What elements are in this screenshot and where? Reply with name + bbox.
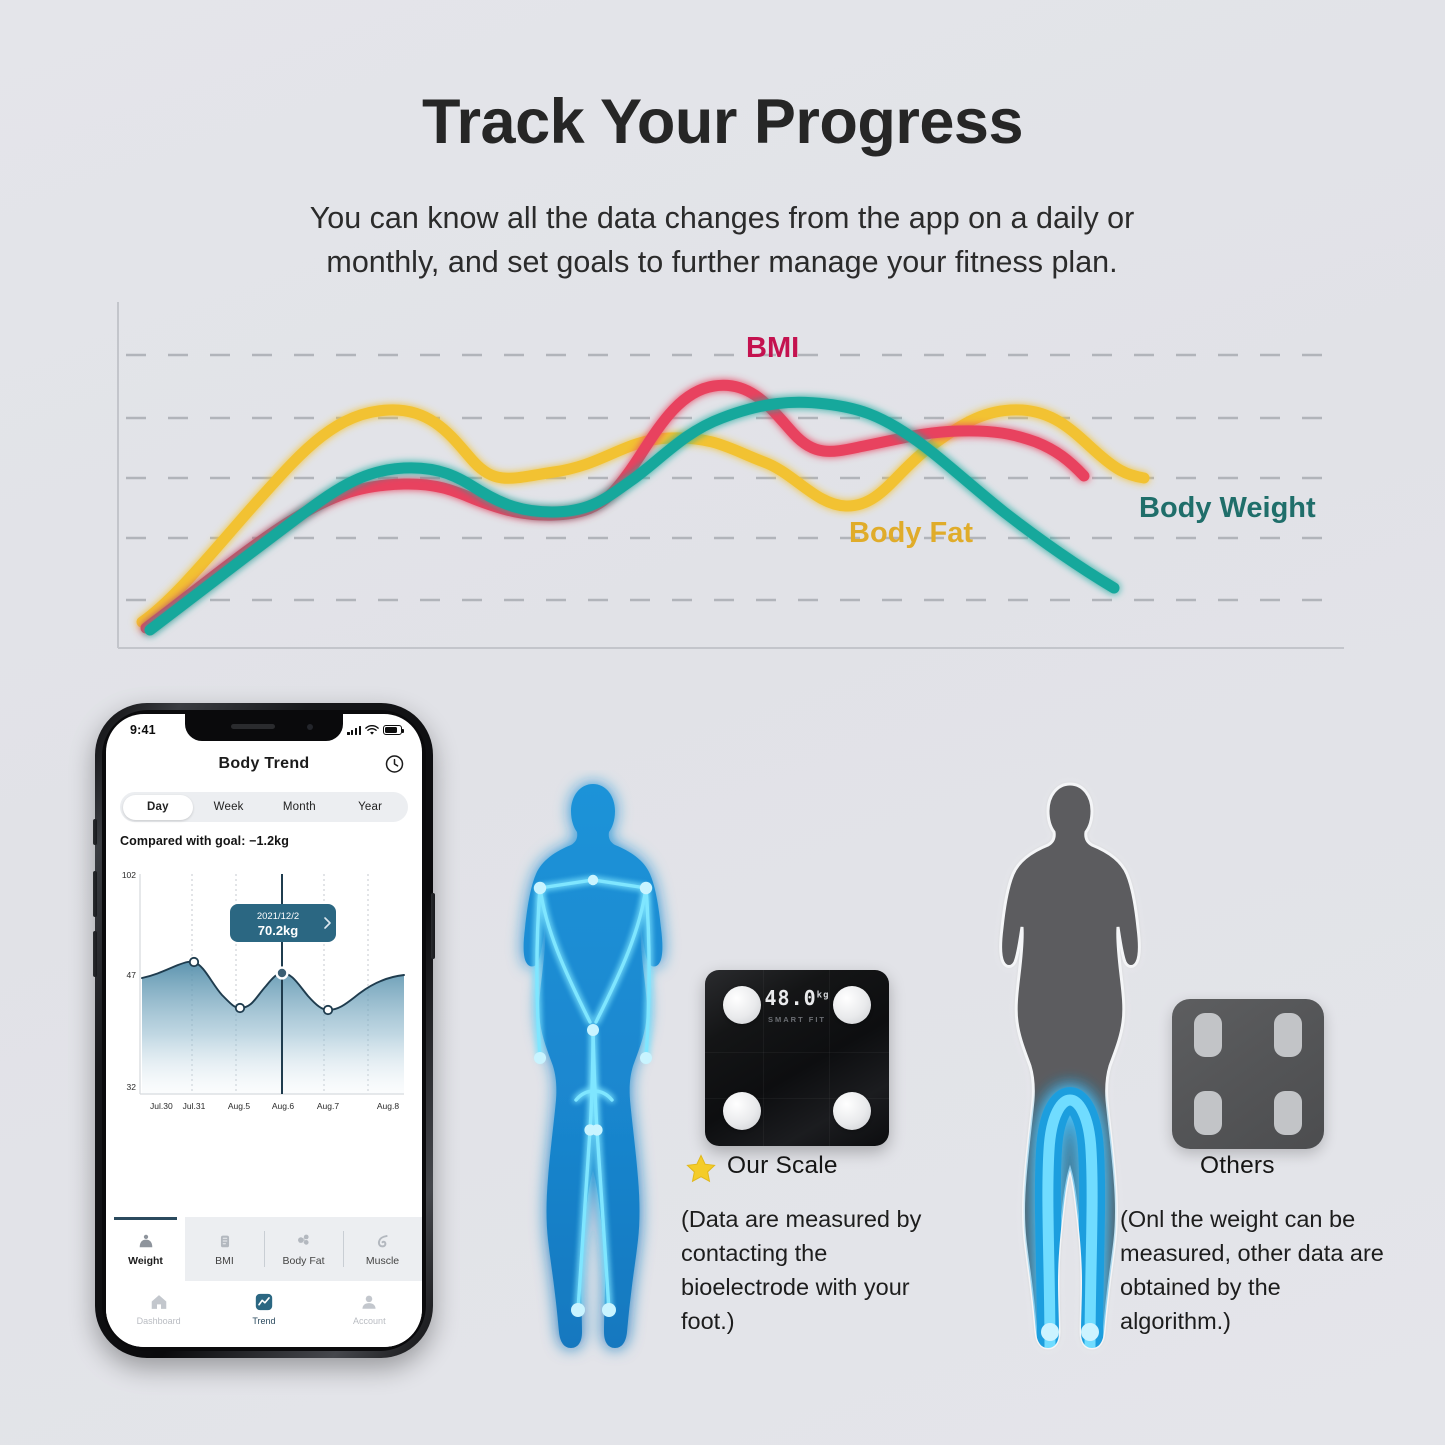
status-time: 9:41 bbox=[130, 723, 156, 737]
tooltip-value: 70.2kg bbox=[258, 923, 299, 938]
wifi-icon bbox=[365, 725, 379, 736]
mini-x-label: Jul.30 bbox=[150, 1101, 173, 1111]
chart-label-bmi: BMI bbox=[746, 332, 799, 364]
scale-pad bbox=[1194, 1013, 1222, 1057]
mini-chart-area bbox=[142, 962, 404, 1094]
mini-x-label: Aug.7 bbox=[317, 1101, 339, 1111]
phone-screen: 9:41 Body Trend bbox=[106, 714, 422, 1347]
nav-label: Account bbox=[353, 1316, 386, 1326]
metric-label: Body Fat bbox=[282, 1255, 324, 1267]
blue-body-figure bbox=[478, 770, 708, 1370]
phone-mute-switch[interactable] bbox=[93, 819, 97, 845]
page-title: Track Your Progress bbox=[0, 86, 1445, 158]
nav-item-trend[interactable]: Trend bbox=[211, 1292, 316, 1326]
muscle-icon bbox=[374, 1232, 392, 1250]
others-description: (Onl the weight can be measured, other d… bbox=[1120, 1202, 1390, 1338]
metric-tab-muscle[interactable]: Muscle bbox=[343, 1217, 422, 1281]
nav-label: Trend bbox=[252, 1316, 275, 1326]
segment-year[interactable]: Year bbox=[335, 795, 406, 820]
segment-week[interactable]: Week bbox=[193, 795, 264, 820]
segment-month[interactable]: Month bbox=[264, 795, 335, 820]
scale-display-unit: kg bbox=[817, 990, 830, 1000]
phone-notch bbox=[185, 714, 343, 741]
nav-item-dashboard[interactable]: Dashboard bbox=[106, 1292, 211, 1326]
chart-label-body-weight: Body Weight bbox=[1139, 492, 1316, 524]
bottom-navigation[interactable]: Dashboard Trend Account bbox=[106, 1281, 422, 1347]
mini-chart-point bbox=[236, 1004, 244, 1012]
star-icon bbox=[684, 1152, 718, 1186]
chart-label-body-fat: Body Fat bbox=[849, 517, 973, 549]
our-scale-description: (Data are measured by contacting the bio… bbox=[681, 1202, 939, 1338]
trend-chart: BMI Body Fat Body Weight bbox=[104, 300, 1354, 660]
bmi-icon bbox=[216, 1232, 234, 1250]
mini-x-label: Jul.31 bbox=[183, 1101, 206, 1111]
front-camera bbox=[307, 724, 313, 730]
phone-volume-up-button[interactable] bbox=[93, 871, 97, 917]
mini-y-label-mid: 47 bbox=[127, 970, 137, 980]
mini-x-label: Aug.8 bbox=[377, 1101, 399, 1111]
goal-comparison-text: Compared with goal: −1.2kg bbox=[120, 834, 289, 848]
signal-bars-icon bbox=[347, 725, 361, 735]
dark-smart-scale[interactable]: 48.0kg SMART FIT bbox=[705, 970, 889, 1146]
metric-tab-weight[interactable]: Weight bbox=[106, 1217, 185, 1281]
mini-chart-point bbox=[190, 958, 198, 966]
status-indicators bbox=[347, 725, 402, 736]
nav-label: Dashboard bbox=[137, 1316, 181, 1326]
scale-display: 48.0kg SMART FIT bbox=[764, 986, 829, 1024]
others-title: Others bbox=[1200, 1152, 1275, 1180]
mini-x-label: Aug.5 bbox=[228, 1101, 250, 1111]
mini-chart-point bbox=[324, 1006, 332, 1014]
app-title: Body Trend bbox=[218, 755, 309, 773]
earpiece-speaker bbox=[231, 724, 275, 729]
metric-label: Weight bbox=[128, 1255, 163, 1267]
series-bmi-line bbox=[146, 385, 1084, 628]
mini-y-label-bottom: 32 bbox=[127, 1082, 137, 1092]
our-scale-title: Our Scale bbox=[727, 1152, 838, 1180]
metric-tab-body-fat[interactable]: Body Fat bbox=[264, 1217, 343, 1281]
phone-power-button[interactable] bbox=[431, 893, 435, 959]
app-header: Body Trend bbox=[106, 744, 422, 784]
electrode-pad bbox=[723, 986, 761, 1024]
weight-icon bbox=[137, 1232, 155, 1250]
mini-y-label-top: 102 bbox=[122, 870, 136, 880]
home-icon bbox=[149, 1292, 169, 1312]
tooltip-date: 2021/12/2 bbox=[257, 911, 299, 922]
body-fat-icon bbox=[295, 1232, 313, 1250]
mini-chart-selected-point bbox=[277, 968, 288, 979]
nav-item-account[interactable]: Account bbox=[317, 1292, 422, 1326]
page-root: Track Your Progress You can know all the… bbox=[0, 0, 1445, 1445]
clock-icon[interactable] bbox=[385, 755, 404, 774]
period-segmented-control[interactable]: Day Week Month Year bbox=[120, 792, 408, 822]
scale-pad bbox=[1274, 1013, 1302, 1057]
electrode-pad bbox=[833, 1092, 871, 1130]
chart-gridlines bbox=[126, 355, 1340, 600]
mini-chart-tooltip: 2021/12/2 70.2kg bbox=[230, 904, 336, 942]
electrode-pad bbox=[723, 1092, 761, 1130]
account-icon bbox=[359, 1292, 379, 1312]
scale-pad bbox=[1194, 1091, 1222, 1135]
metric-tab-bar[interactable]: Weight BMI Body Fat bbox=[106, 1217, 422, 1281]
weight-trend-chart[interactable]: 102 47 32 bbox=[106, 862, 422, 1162]
phone-volume-down-button[interactable] bbox=[93, 931, 97, 977]
battery-icon bbox=[383, 725, 402, 735]
metric-tab-bmi[interactable]: BMI bbox=[185, 1217, 264, 1281]
phone-mockup: 9:41 Body Trend bbox=[95, 703, 433, 1358]
gray-basic-scale[interactable] bbox=[1172, 999, 1324, 1149]
metric-label: Muscle bbox=[366, 1255, 399, 1267]
scale-display-value: 48.0 bbox=[764, 986, 816, 1010]
segment-day[interactable]: Day bbox=[123, 795, 194, 820]
trend-icon bbox=[254, 1292, 274, 1312]
scale-pad bbox=[1274, 1091, 1302, 1135]
page-subtitle: You can know all the data changes from t… bbox=[262, 196, 1182, 284]
metric-label: BMI bbox=[215, 1255, 234, 1267]
scale-brand: SMART FIT bbox=[764, 1015, 829, 1024]
electrode-pad bbox=[833, 986, 871, 1024]
mini-x-label: Aug.6 bbox=[272, 1101, 294, 1111]
